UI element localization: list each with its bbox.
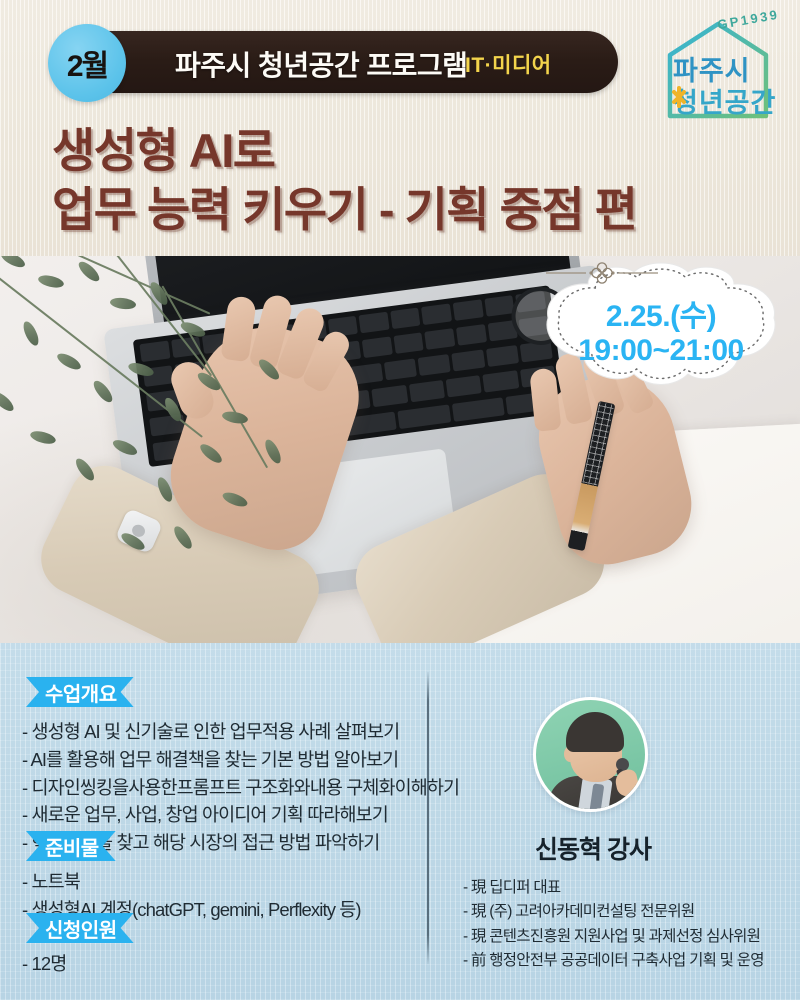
- instructor-avatar: [533, 697, 648, 812]
- capacity-list: - 12명: [22, 950, 66, 978]
- list-item: - 노트북: [22, 868, 361, 896]
- list-item: - 12명: [22, 950, 66, 978]
- month-badge-label: 2월: [67, 41, 107, 85]
- main-title-line-1: 생성형 AI로: [52, 124, 636, 179]
- section-label-overview: 수업개요: [26, 677, 134, 707]
- date-badge: 2.25.(수) 19:00~21:00: [542, 262, 780, 390]
- list-item: - 생성형 AI 및 신기술로 인한 업무적용 사례 살펴보기: [22, 718, 459, 746]
- list-item: - 새로운 업무, 사업, 창업 아이디어 기획 따라해보기: [22, 801, 459, 829]
- date-badge-time: 19:00~21:00: [578, 334, 743, 368]
- instructor-name: 신동혁 강사: [433, 830, 753, 866]
- month-badge: 2월: [48, 24, 126, 102]
- list-item: - 現 딥디퍼 대표: [463, 876, 764, 900]
- date-ornament-icon: [542, 262, 662, 284]
- list-item: - 現 콘텐츠진흥원 지원사업 및 과제선정 심사위원: [463, 925, 764, 949]
- main-title-block: 생성형 AI로 업무 능력 키우기 - 기획 중점 편: [52, 124, 636, 237]
- svg-text:청년공간: 청년공간: [673, 88, 776, 118]
- main-title-line-2: 업무 능력 키우기 - 기획 중점 편: [52, 183, 636, 238]
- header-program-title: 파주시 청년공간 프로그램: [175, 44, 467, 84]
- list-item: - 디자인씽킹을사용한프롬프트 구조화와내용 구체화이해하기: [22, 774, 459, 802]
- list-item: - 前 행정안전부 공공데이터 구축사업 기획 및 운영: [463, 949, 764, 973]
- section-label-capacity: 신청인원: [26, 913, 134, 943]
- list-item: - AI를 활용해 업무 해결책을 찾는 기본 방법 알아보기: [22, 746, 459, 774]
- poster-root: GP1939 파주시 청년공간 파주시 청년공간 프로그램 IT·미디어 2월 …: [0, 0, 800, 1000]
- header-category-label: IT·미디어: [465, 49, 552, 79]
- date-badge-date: 2.25.(수): [606, 300, 716, 334]
- section-label-materials: 준비물: [26, 831, 116, 861]
- eucalyptus-leaves-overlay: [0, 256, 390, 636]
- instructor-credentials-list: - 現 딥디퍼 대표 - 現 (주) 고려아카데미컨설팅 전문위원 - 現 콘텐…: [463, 876, 764, 974]
- svg-text:파주시: 파주시: [673, 56, 751, 86]
- paju-youth-space-logo: GP1939 파주시 청년공간: [656, 8, 786, 126]
- list-item: - 現 (주) 고려아카데미컨설팅 전문위원: [463, 900, 764, 924]
